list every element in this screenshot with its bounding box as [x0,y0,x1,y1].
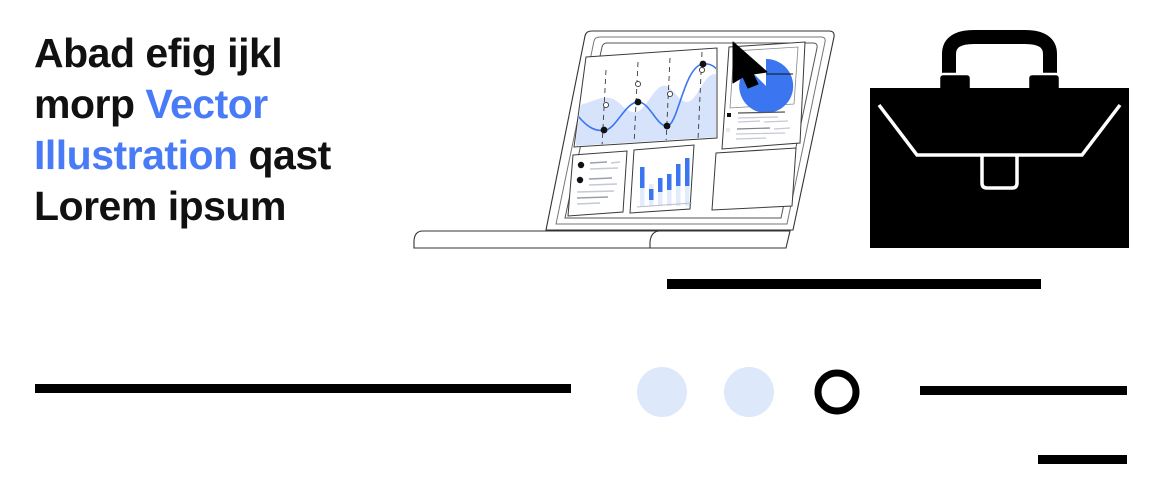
list-text-5 [589,184,617,185]
marker-filled-1 [601,127,608,134]
list-text-1 [590,162,607,163]
marker-filled-3 [664,123,671,130]
briefcase-body [870,88,1129,248]
dot-ring [818,373,856,411]
bar-lower-right [920,386,1127,395]
illustration-canvas: Abad efig ijkl morp Vector Illustration … [0,0,1161,500]
laptop-illustration [414,31,834,248]
bar-upper-right [667,279,1041,289]
value-bar-4 [667,174,672,190]
bullet-dot-1 [578,162,584,168]
empty-panel [712,148,796,210]
bullet-list-panel [568,151,627,216]
marker-hollow-4 [699,67,704,72]
bar-bottom-right [1038,455,1127,464]
value-bar-5 [676,164,681,186]
bullet-square-1 [727,113,731,117]
value-bar-1 [640,167,645,188]
bullet-square-2 [726,128,730,132]
list-text-8 [577,203,600,204]
value-bar-6 [685,158,690,186]
value-bar-2 [649,189,654,200]
briefcase-illustration [870,37,1129,248]
marker-hollow-2 [635,81,640,86]
list-text-4 [589,178,612,179]
decorative-dots [637,367,856,417]
line-chart-panel [574,48,719,147]
dot-filled-1 [637,367,687,417]
laptop-base [414,229,790,248]
vector-artwork [0,0,1161,500]
bar-chart-panel [630,145,694,213]
bullet-list-panel-frame [568,151,627,216]
bar-lower-left [35,384,571,393]
list-text-6 [577,191,614,192]
laptop-base-front [414,231,790,248]
marker-filled-4 [700,61,707,68]
pie-chart-panel [722,42,805,149]
bullet-dot-2 [577,177,583,183]
marker-hollow-1 [603,102,608,107]
list-text-3 [590,168,618,169]
decorative-bars [35,279,1127,464]
value-bar-3 [658,178,663,192]
marker-filled-2 [635,99,642,106]
list-text-2 [611,162,620,163]
marker-hollow-3 [667,91,672,96]
empty-panel-frame [712,148,796,210]
dot-filled-2 [724,367,774,417]
list-text-7 [577,197,608,198]
